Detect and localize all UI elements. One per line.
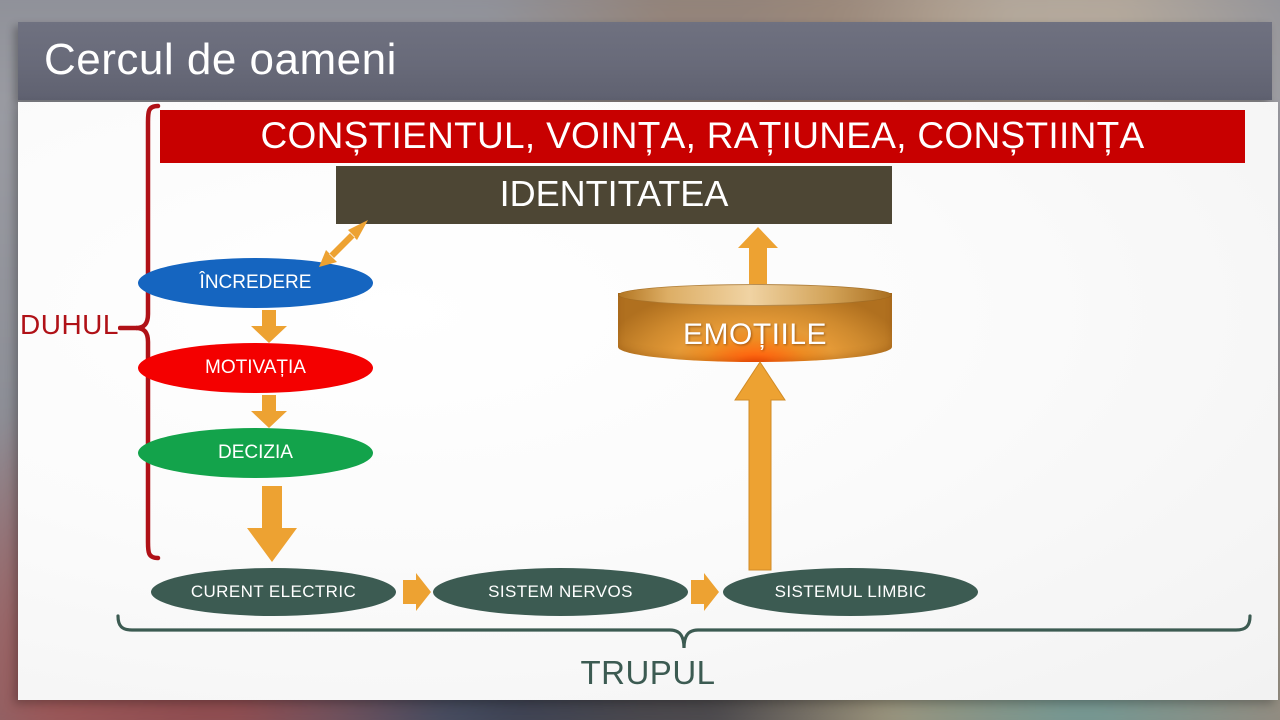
identity-box-label: IDENTITATEA bbox=[336, 173, 892, 215]
arrow-decizia-to-curent-electric-icon bbox=[245, 486, 299, 564]
arrow-limbic-to-emotii-icon bbox=[733, 360, 787, 572]
node-decizia-label: DECIZIA bbox=[218, 442, 293, 464]
spirit-group-label: DUHUL bbox=[20, 309, 119, 341]
emotions-cylinder[interactable]: EMOȚIILE bbox=[618, 284, 892, 362]
node-sistemul-limbic[interactable]: SISTEMUL LIMBIC bbox=[723, 568, 978, 616]
node-curent-electric-label: CURENT ELECTRIC bbox=[191, 582, 356, 602]
node-incredere-label: ÎNCREDERE bbox=[200, 272, 312, 294]
node-curent-electric[interactable]: CURENT ELECTRIC bbox=[151, 568, 396, 616]
arrow-motivatia-to-decizia-icon bbox=[249, 395, 289, 429]
arrow-emotii-to-identitatea-icon bbox=[736, 226, 780, 286]
node-motivatia[interactable]: MOTIVAȚIA bbox=[138, 343, 373, 393]
headline-bar-label: CONȘTIENTUL, VOINȚA, RAȚIUNEA, CONȘTIINȚ… bbox=[160, 115, 1245, 157]
node-motivatia-label: MOTIVAȚIA bbox=[205, 357, 306, 379]
arrow-incredere-to-identitatea-icon bbox=[318, 218, 370, 268]
cylinder-top-ellipse bbox=[618, 284, 892, 306]
node-sistem-nervos[interactable]: SISTEM NERVOS bbox=[433, 568, 688, 616]
headline-bar: CONȘTIENTUL, VOINȚA, RAȚIUNEA, CONȘTIINȚ… bbox=[160, 110, 1245, 163]
slide-title: Cercul de oameni bbox=[44, 35, 397, 85]
slide-root: Cercul de oameni CONȘTIENTUL, VOINȚA, RA… bbox=[0, 0, 1280, 720]
body-brace bbox=[114, 614, 1254, 652]
node-decizia[interactable]: DECIZIA bbox=[138, 428, 373, 478]
identity-box: IDENTITATEA bbox=[336, 166, 892, 224]
spirit-brace bbox=[118, 102, 162, 562]
emotions-label: EMOȚIILE bbox=[618, 318, 892, 352]
arrow-curent-to-nervos-icon bbox=[401, 571, 433, 613]
diagram-canvas: CONȘTIENTUL, VOINȚA, RAȚIUNEA, CONȘTIINȚ… bbox=[18, 102, 1278, 700]
body-group-label: TRUPUL bbox=[18, 654, 1278, 692]
slide-title-bar: Cercul de oameni bbox=[18, 22, 1272, 100]
node-sistemul-limbic-label: SISTEMUL LIMBIC bbox=[775, 582, 927, 602]
arrow-incredere-to-motivatia-icon bbox=[249, 310, 289, 344]
arrow-nervos-to-limbic-icon bbox=[689, 571, 721, 613]
node-sistem-nervos-label: SISTEM NERVOS bbox=[488, 582, 633, 602]
